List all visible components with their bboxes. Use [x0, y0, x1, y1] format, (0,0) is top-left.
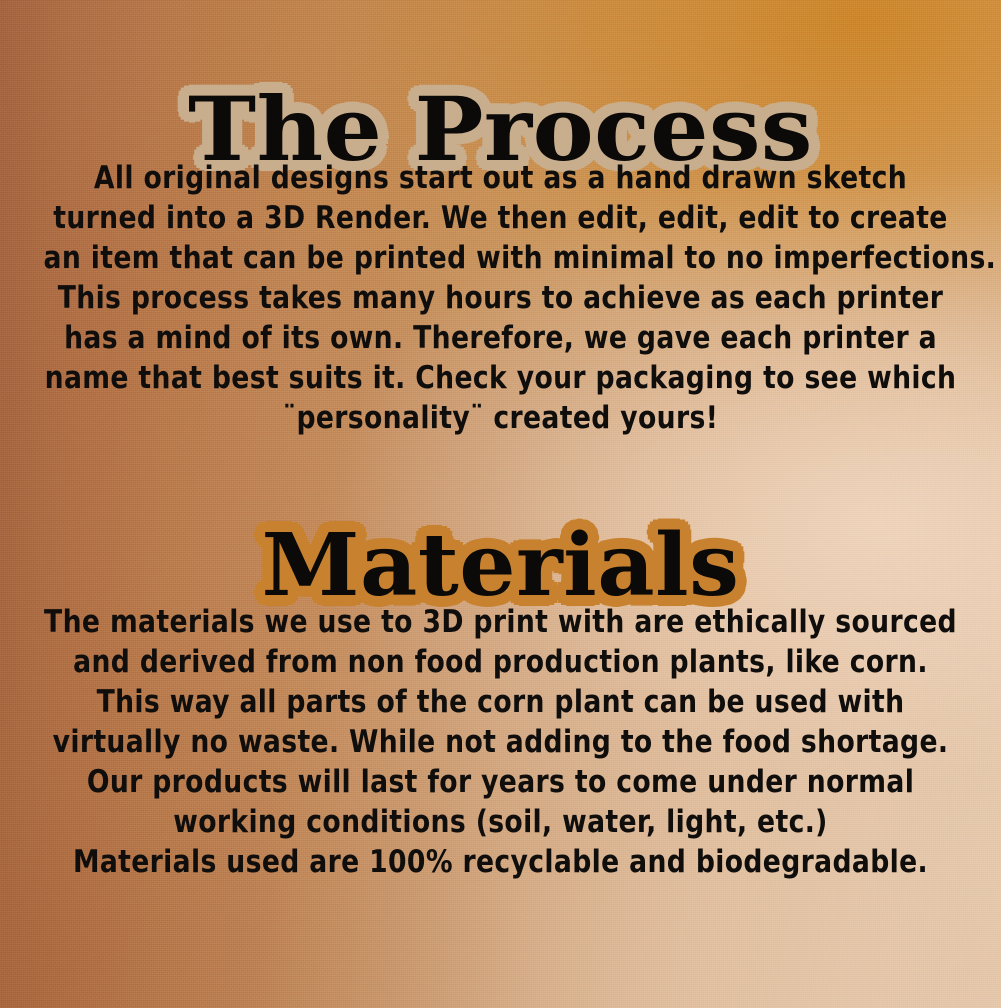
- materials-line-4: virtually no waste. While not adding to …: [44, 722, 958, 762]
- materials-line-5: Our products will last for years to come…: [44, 762, 958, 802]
- poster-content: The Process All original designs start o…: [0, 0, 1001, 1008]
- materials-line-2: and derived from non food production pla…: [44, 642, 958, 682]
- materials-heading: Materials: [0, 523, 1001, 609]
- process-line-3: an item that can be printed with minimal…: [44, 238, 958, 278]
- materials-line-3: This way all parts of the corn plant can…: [44, 682, 958, 722]
- process-line-2: turned into a 3D Render. We then edit, e…: [44, 198, 958, 238]
- process-line-4: This process takes many hours to achieve…: [44, 278, 958, 318]
- materials-line-7: Materials used are 100% recyclable and b…: [44, 842, 958, 882]
- process-line-6: name that best suits it. Check your pack…: [44, 358, 958, 398]
- process-paragraph: All original designs start out as a hand…: [0, 158, 1001, 438]
- materials-line-1: The materials we use to 3D print with ar…: [44, 602, 958, 642]
- process-line-1: All original designs start out as a hand…: [44, 158, 958, 198]
- materials-line-6: working conditions (soil, water, light, …: [44, 802, 958, 842]
- poster-canvas: The Process All original designs start o…: [0, 0, 1001, 1008]
- process-line-7: ¨personality¨ created yours!: [44, 398, 958, 438]
- materials-paragraph: The materials we use to 3D print with ar…: [0, 602, 1001, 882]
- process-line-5: has a mind of its own. Therefore, we gav…: [44, 318, 958, 358]
